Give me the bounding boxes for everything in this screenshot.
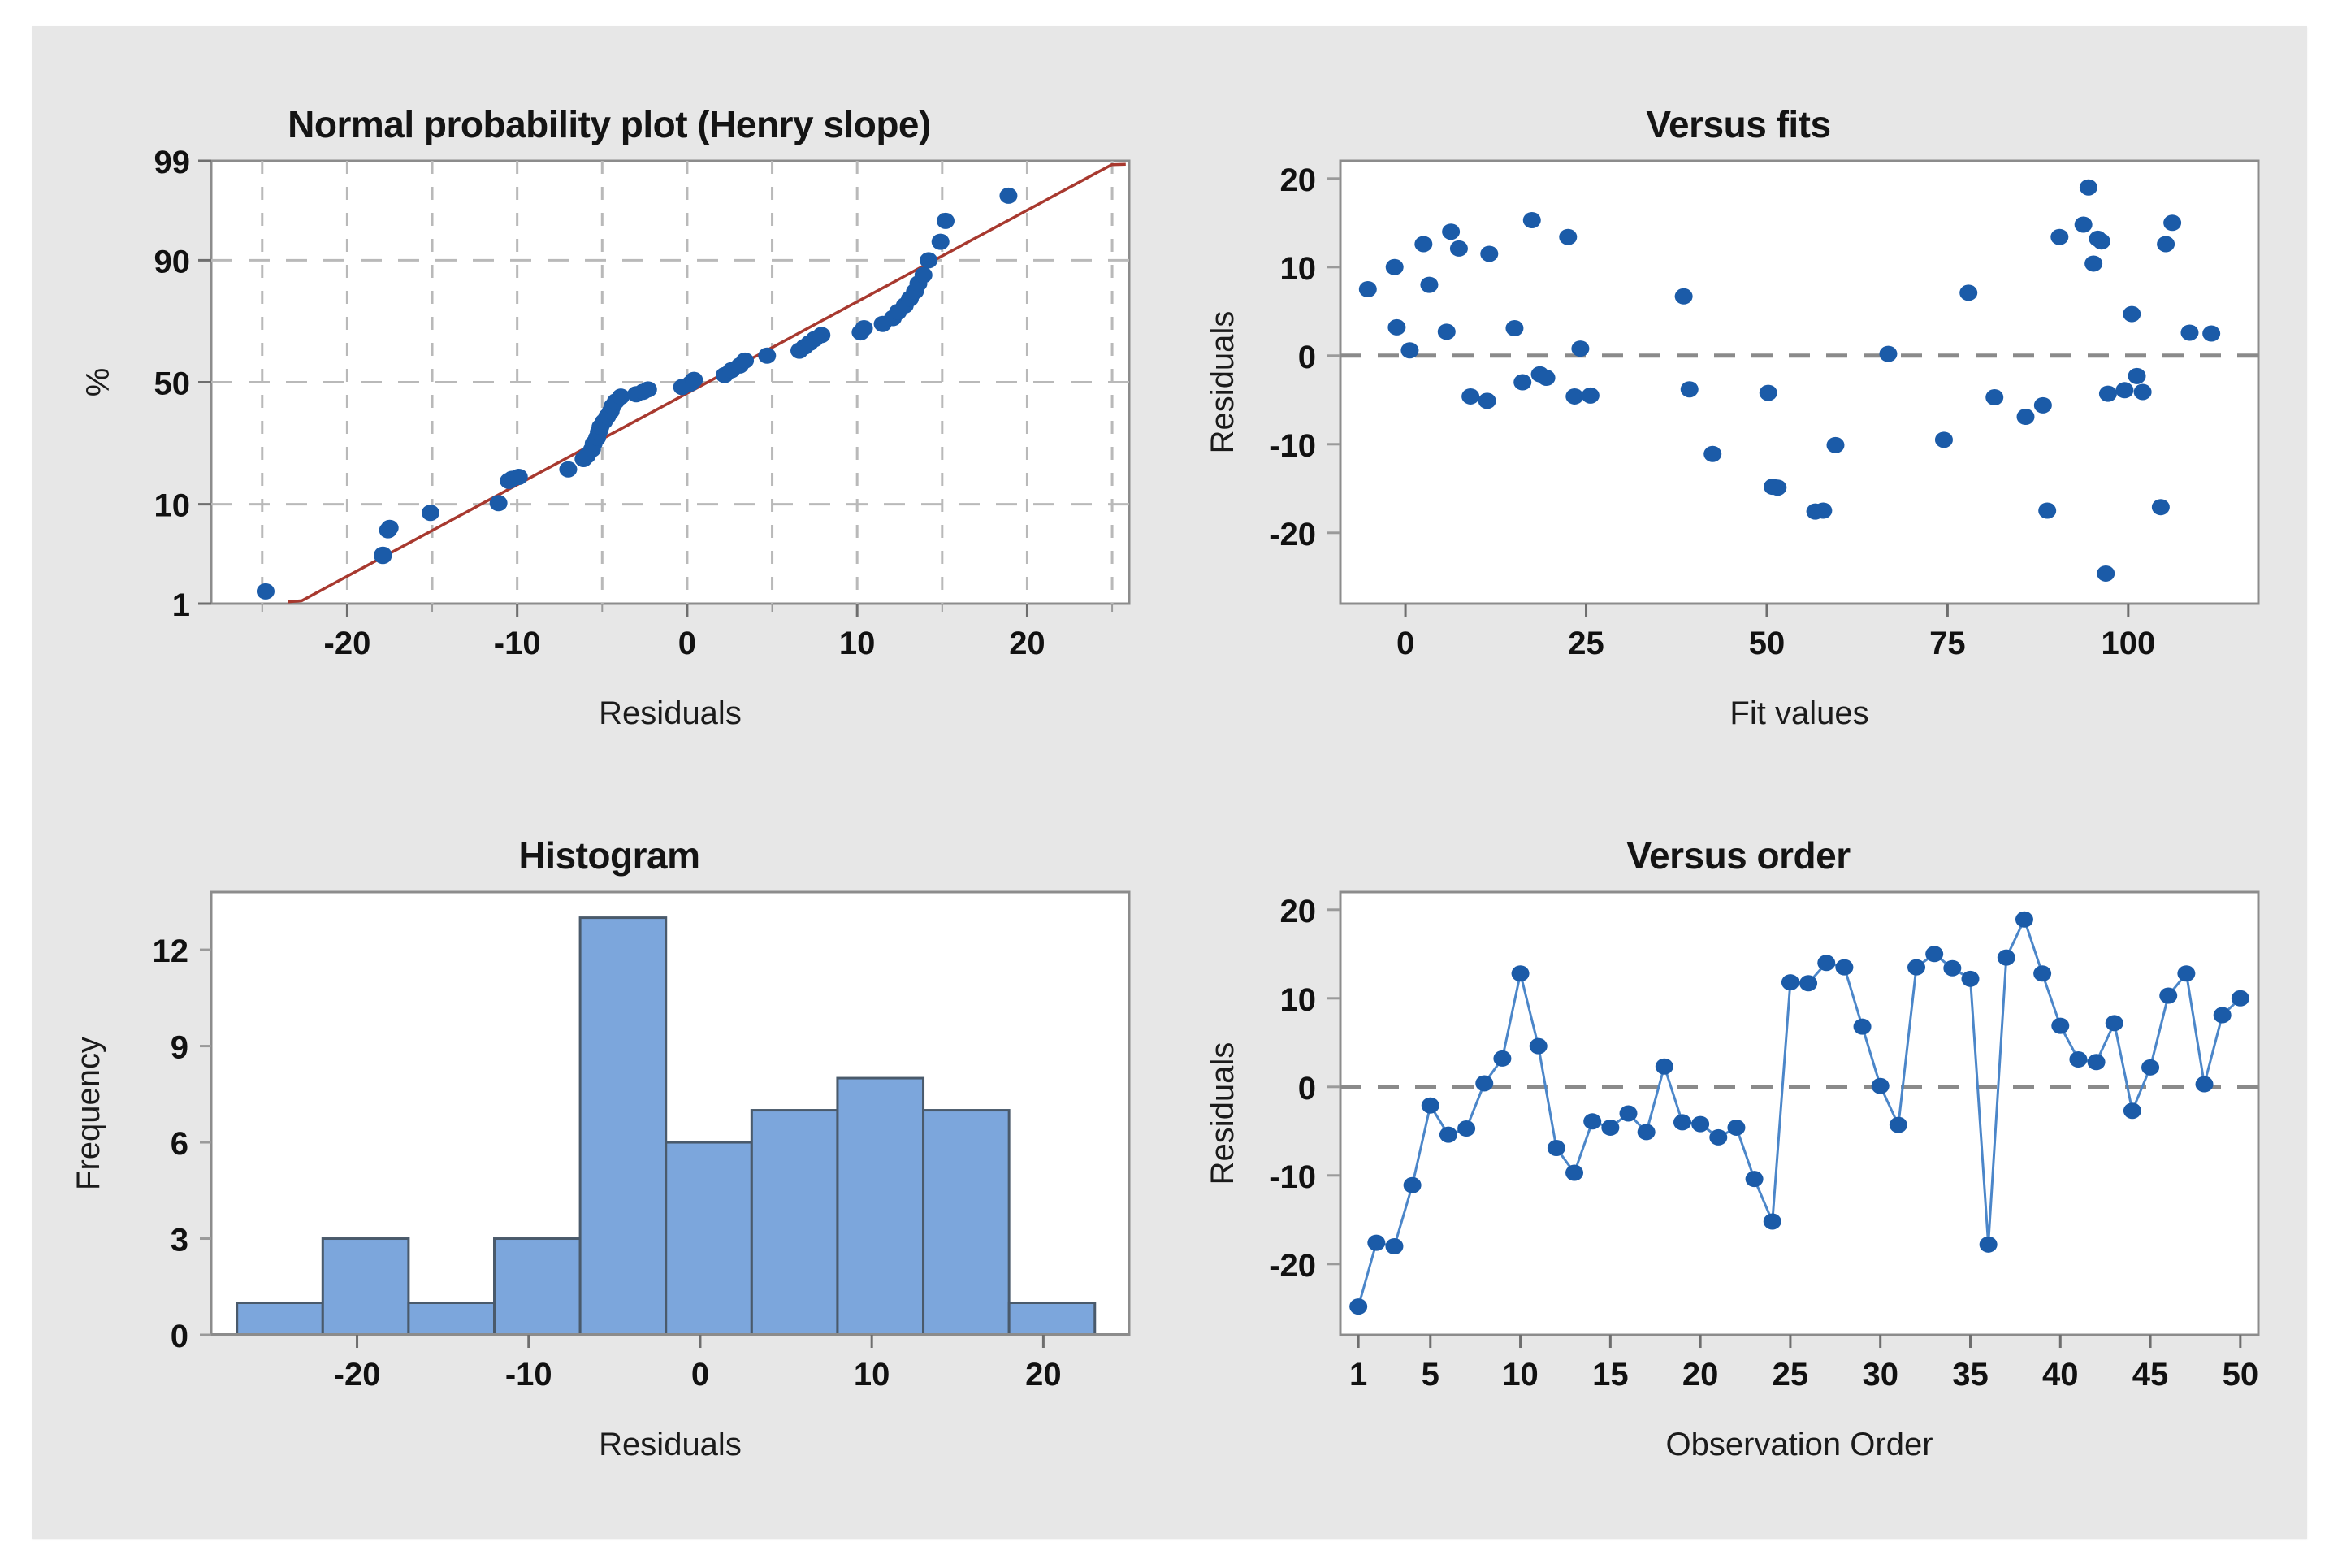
data-point[interactable] (999, 188, 1017, 204)
histogram-bar[interactable] (1009, 1303, 1095, 1335)
data-point[interactable] (1505, 320, 1523, 336)
svg-text:Fit values: Fit values (1729, 695, 1868, 731)
histogram-group: -20-1001020036912ResidualsFrequency (71, 892, 1129, 1462)
data-point[interactable] (1367, 1235, 1385, 1251)
svg-text:25: 25 (1773, 1357, 1809, 1393)
data-point[interactable] (2123, 306, 2141, 323)
histogram-bar[interactable] (924, 1111, 1010, 1335)
histogram-bar[interactable] (666, 1142, 752, 1335)
data-point[interactable] (1760, 385, 1777, 401)
data-point[interactable] (2093, 233, 2110, 249)
svg-text:5: 5 (1422, 1357, 1439, 1393)
data-point[interactable] (1530, 1038, 1548, 1055)
data-point[interactable] (1890, 1117, 1907, 1133)
data-point[interactable] (1799, 975, 1817, 991)
data-point[interactable] (1386, 259, 1404, 275)
svg-text:0: 0 (1396, 626, 1414, 661)
versus-fits-svg[interactable]: 0255075100-20-1001020Fit valuesResiduals (1178, 65, 2299, 796)
data-point[interactable] (2196, 1076, 2214, 1093)
data-point[interactable] (2050, 229, 2068, 245)
data-point[interactable] (2202, 326, 2220, 342)
data-point[interactable] (1835, 959, 1853, 976)
data-point[interactable] (812, 327, 830, 343)
data-point[interactable] (1513, 375, 1531, 391)
data-point[interactable] (2128, 368, 2146, 384)
svg-text:-20: -20 (1269, 1248, 1316, 1284)
data-point[interactable] (1461, 388, 1479, 405)
svg-text:50: 50 (154, 366, 191, 402)
svg-text:10: 10 (839, 626, 876, 661)
data-point[interactable] (937, 213, 955, 229)
svg-text:-10: -10 (505, 1357, 552, 1393)
svg-text:20: 20 (1025, 1357, 1062, 1393)
histogram-bar[interactable] (409, 1303, 495, 1335)
svg-text:-20: -20 (1269, 517, 1316, 552)
svg-text:75: 75 (1929, 626, 1966, 661)
histogram-panel[interactable]: Histogram -20-1001020036912ResidualsFreq… (49, 796, 1170, 1527)
svg-text:40: 40 (2042, 1357, 2079, 1393)
versus-order-group: 15101520253035404550-20-1001020Observati… (1205, 892, 2258, 1462)
histogram-svg[interactable]: -20-1001020036912ResidualsFrequency (49, 796, 1170, 1527)
data-point[interactable] (2152, 499, 2170, 515)
svg-text:20: 20 (1280, 894, 1317, 929)
svg-text:10: 10 (1280, 982, 1317, 1018)
svg-text:20: 20 (1682, 1357, 1719, 1393)
svg-text:25: 25 (1568, 626, 1604, 661)
svg-text:99: 99 (154, 145, 191, 180)
data-point[interactable] (2141, 1059, 2159, 1076)
data-point[interactable] (855, 320, 873, 336)
data-point[interactable] (685, 372, 703, 388)
data-point[interactable] (2034, 397, 2052, 414)
data-point[interactable] (1691, 1116, 1709, 1133)
svg-text:50: 50 (2223, 1357, 2259, 1393)
svg-text:0: 0 (1298, 340, 1316, 375)
data-point[interactable] (1450, 240, 1468, 257)
versus-order-svg[interactable]: 15101520253035404550-20-1001020Observati… (1178, 796, 2299, 1527)
data-point[interactable] (2051, 1018, 2069, 1034)
data-point[interactable] (920, 252, 937, 268)
data-point[interactable] (1442, 223, 1460, 240)
data-point[interactable] (2180, 324, 2198, 340)
svg-text:1: 1 (172, 587, 190, 623)
svg-text:10: 10 (1502, 1357, 1539, 1393)
data-point[interactable] (2015, 912, 2033, 928)
data-point[interactable] (1826, 437, 1844, 453)
versus-order-panel[interactable]: Versus order 15101520253035404550-20-100… (1178, 796, 2299, 1527)
data-point[interactable] (1872, 1078, 1890, 1094)
svg-text:12: 12 (153, 933, 189, 969)
data-point[interactable] (2084, 255, 2102, 271)
data-point[interactable] (1656, 1059, 1673, 1075)
data-point[interactable] (1961, 971, 1979, 987)
svg-text:-10: -10 (1269, 428, 1316, 464)
data-point[interactable] (1980, 1237, 1998, 1253)
data-point[interactable] (510, 469, 528, 485)
data-point[interactable] (2106, 1015, 2123, 1031)
svg-text:0: 0 (1298, 1071, 1316, 1107)
data-point[interactable] (1420, 277, 1438, 293)
data-point[interactable] (1675, 288, 1693, 305)
svg-text:30: 30 (1862, 1357, 1898, 1393)
svg-text:35: 35 (1952, 1357, 1989, 1393)
histogram-bar[interactable] (495, 1239, 581, 1335)
data-point[interactable] (2099, 386, 2117, 402)
data-point[interactable] (1359, 281, 1377, 297)
histogram-bar[interactable] (237, 1303, 323, 1335)
data-point[interactable] (422, 505, 439, 521)
svg-text:3: 3 (171, 1223, 188, 1258)
data-point[interactable] (736, 353, 754, 369)
data-point[interactable] (2214, 1007, 2232, 1024)
data-point[interactable] (1565, 1165, 1583, 1181)
data-point[interactable] (1538, 370, 1556, 386)
versus-fits-group: 0255075100-20-1001020Fit valuesResiduals (1205, 161, 2258, 731)
data-point[interactable] (1638, 1124, 1656, 1140)
data-point[interactable] (1480, 245, 1498, 262)
data-point[interactable] (2033, 965, 2051, 981)
data-point[interactable] (915, 267, 933, 284)
data-point[interactable] (1565, 388, 1583, 405)
data-point[interactable] (1935, 431, 1953, 448)
data-point[interactable] (1457, 1120, 1475, 1137)
svg-text:0: 0 (678, 626, 696, 661)
data-point[interactable] (1559, 229, 1577, 245)
data-point[interactable] (2016, 409, 2034, 425)
data-point[interactable] (1985, 389, 2003, 405)
data-point[interactable] (1439, 1127, 1457, 1143)
plots-grid: Normal probability plot (Henry slope) -2… (32, 26, 2307, 1539)
svg-text:1: 1 (1349, 1357, 1367, 1393)
svg-text:-10: -10 (494, 626, 541, 661)
data-point[interactable] (2080, 180, 2097, 196)
svg-text:6: 6 (171, 1126, 188, 1162)
data-point[interactable] (1879, 346, 1897, 362)
data-point[interactable] (2097, 565, 2115, 582)
data-point[interactable] (1478, 392, 1496, 409)
svg-text:10: 10 (1280, 251, 1317, 287)
data-point[interactable] (490, 495, 508, 511)
svg-text:20: 20 (1009, 626, 1045, 661)
svg-text:20: 20 (1280, 162, 1317, 198)
svg-text:50: 50 (1749, 626, 1786, 661)
normal-probability-plot-panel[interactable]: Normal probability plot (Henry slope) -2… (49, 65, 1170, 796)
data-point[interactable] (1998, 950, 2015, 966)
data-point[interactable] (2123, 1102, 2141, 1119)
data-point[interactable] (257, 583, 275, 600)
data-point[interactable] (758, 348, 776, 364)
data-point[interactable] (1385, 1238, 1403, 1254)
data-point[interactable] (1493, 1050, 1511, 1067)
histogram-bar[interactable] (751, 1111, 838, 1335)
data-point[interactable] (1523, 212, 1541, 228)
data-point[interactable] (1582, 388, 1600, 404)
data-point[interactable] (1475, 1075, 1493, 1091)
data-point[interactable] (639, 381, 657, 397)
svg-text:0: 0 (171, 1319, 188, 1354)
data-point[interactable] (1620, 1106, 1638, 1122)
svg-text:-20: -20 (334, 1357, 381, 1393)
data-point[interactable] (2038, 503, 2056, 519)
data-point[interactable] (1907, 959, 1925, 976)
data-point[interactable] (2163, 214, 2181, 231)
versus-fits-panel[interactable]: Versus fits 0255075100-20-1001020Fit val… (1178, 65, 2299, 796)
data-point[interactable] (381, 520, 399, 536)
normal-plot-group: -20-1001020110509099Residuals% (80, 145, 1129, 731)
data-point[interactable] (2134, 383, 2152, 400)
data-point[interactable] (612, 388, 630, 405)
data-point[interactable] (1764, 1213, 1781, 1229)
data-point[interactable] (1681, 381, 1699, 397)
data-point[interactable] (932, 234, 950, 250)
data-point[interactable] (1673, 1114, 1691, 1130)
versus-fits-frame (1340, 161, 2258, 604)
svg-text:45: 45 (2132, 1357, 2169, 1393)
svg-text:0: 0 (691, 1357, 709, 1393)
data-point[interactable] (1781, 974, 1799, 990)
svg-text:-10: -10 (1269, 1159, 1316, 1195)
data-point[interactable] (1925, 946, 1943, 962)
data-point[interactable] (1601, 1120, 1619, 1136)
versus-order-frame (1340, 892, 2258, 1335)
histogram-bar[interactable] (323, 1239, 409, 1335)
svg-text:Residuals: Residuals (599, 695, 742, 731)
data-point[interactable] (2177, 965, 2195, 981)
svg-text:Residuals: Residuals (1205, 1042, 1240, 1185)
data-point[interactable] (2232, 990, 2249, 1007)
svg-text:100: 100 (2101, 626, 2155, 661)
normal-probability-plot-svg[interactable]: -20-1001020110509099Residuals% (49, 65, 1170, 796)
figure-frame: Normal probability plot (Henry slope) -2… (0, 0, 2329, 1568)
histogram-bar[interactable] (580, 918, 666, 1335)
data-point[interactable] (559, 461, 577, 478)
data-point[interactable] (1349, 1298, 1367, 1315)
data-point[interactable] (1943, 960, 1961, 977)
svg-text:Residuals: Residuals (599, 1427, 742, 1462)
data-point[interactable] (1703, 446, 1721, 462)
data-point[interactable] (1854, 1019, 1872, 1035)
svg-text:%: % (80, 368, 116, 397)
histogram-bar[interactable] (838, 1078, 924, 1335)
data-point[interactable] (2088, 1054, 2106, 1070)
svg-text:Frequency: Frequency (71, 1037, 106, 1190)
data-point[interactable] (1709, 1129, 1727, 1146)
data-point[interactable] (1583, 1113, 1601, 1129)
data-point[interactable] (1768, 479, 1786, 496)
data-point[interactable] (1727, 1120, 1745, 1136)
data-point[interactable] (2075, 216, 2093, 232)
data-point[interactable] (1548, 1140, 1565, 1156)
svg-text:9: 9 (171, 1030, 188, 1066)
data-point[interactable] (1814, 503, 1832, 519)
svg-text:10: 10 (154, 488, 191, 524)
data-point[interactable] (1817, 955, 1835, 971)
data-point[interactable] (1404, 1177, 1422, 1193)
svg-text:15: 15 (1592, 1357, 1629, 1393)
data-point[interactable] (1512, 965, 1530, 981)
data-point[interactable] (1438, 323, 1456, 340)
data-point[interactable] (1414, 236, 1432, 252)
data-point[interactable] (1422, 1098, 1439, 1114)
svg-text:90: 90 (154, 244, 191, 279)
data-point[interactable] (1959, 284, 1977, 301)
svg-text:Residuals: Residuals (1205, 311, 1240, 454)
data-point[interactable] (2115, 382, 2133, 398)
data-point[interactable] (2157, 236, 2175, 252)
data-point[interactable] (2069, 1051, 2087, 1068)
data-point[interactable] (1400, 342, 1418, 358)
data-point[interactable] (1746, 1171, 1764, 1187)
data-point[interactable] (2159, 988, 2177, 1004)
svg-text:Observation Order: Observation Order (1665, 1427, 1933, 1462)
svg-text:-20: -20 (324, 626, 371, 661)
data-point[interactable] (1387, 319, 1405, 336)
data-point[interactable] (374, 547, 392, 563)
residual-plots-figure: Normal probability plot (Henry slope) -2… (32, 26, 2307, 1539)
svg-text:10: 10 (854, 1357, 890, 1393)
data-point[interactable] (1571, 340, 1589, 357)
